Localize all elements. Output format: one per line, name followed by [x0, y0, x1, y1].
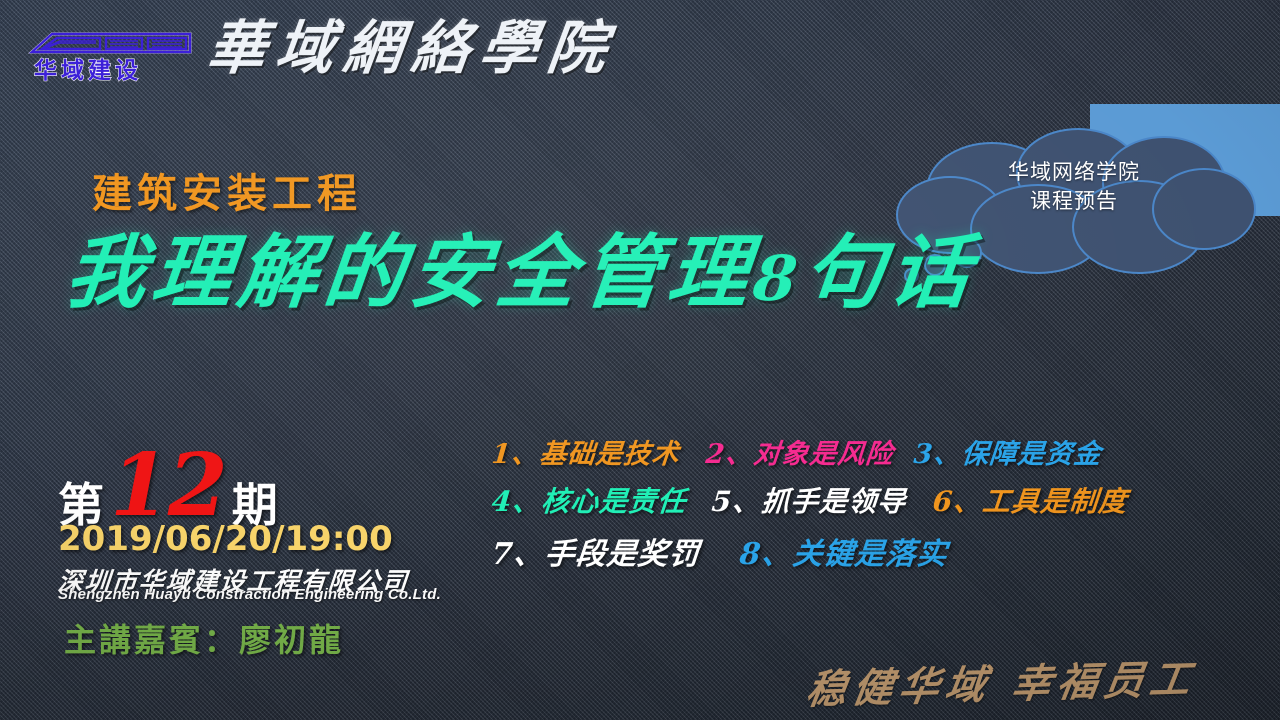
main-title: 我理解的安全管理8句话 [61, 224, 981, 327]
point-item-5: 5、抓手是领导 [711, 480, 909, 520]
main-title-part1: 我理解的安全管理 [61, 225, 759, 319]
cloud-text-line2: 课程预告 [896, 187, 1252, 216]
point-item-2: 2、对象是风险 [704, 432, 895, 471]
main-title-part2: 句话 [799, 225, 981, 319]
poster-canvas: 华域网络学院 课程预告 华域建设 華域網絡學院 建 [0, 0, 1280, 720]
points-row: 1、基础是技术 2、对象是风险 3、保障是资金 [492, 432, 1232, 471]
point-item-8: 8、关键是落实 [738, 529, 950, 573]
vignette-overlay [0, 0, 1280, 720]
main-title-number: 8 [750, 242, 807, 315]
logo-wordmark: 华域建设 [34, 57, 142, 82]
company-logo: 华域建设 [26, 26, 196, 82]
cloud-text: 华域网络学院 课程预告 [896, 158, 1252, 216]
points-row: 4、核心是责任 5、抓手是领导 6、工具是制度 [492, 480, 1232, 520]
points-row: 7、手段是奖罚 8、关键是落实 [492, 529, 1232, 573]
subject-title: 建筑安装工程 [92, 161, 362, 219]
speaker-line: 主講嘉賓：廖初龍 [64, 615, 344, 661]
point-item-7: 7、手段是奖罚 [490, 529, 702, 573]
slogan-calligraphy: 稳健华域 幸福员工 [803, 647, 1201, 716]
point-item-1: 1、基础是技术 [490, 432, 681, 471]
points-list: 1、基础是技术 2、对象是风险 3、保障是资金 4、核心是责任 5、抓手是领导 … [492, 432, 1232, 582]
point-item-4: 4、核心是责任 [490, 480, 688, 520]
event-datetime: 2019/06/20/19:00 [58, 519, 393, 559]
point-item-3: 3、保障是资金 [912, 432, 1103, 471]
academy-calligraphy-title: 華域網絡學院 [204, 14, 620, 82]
train-logo-icon: 华域建设 [26, 26, 196, 82]
point-item-6: 6、工具是制度 [931, 480, 1129, 520]
cloud-text-line1: 华域网络学院 [896, 158, 1252, 187]
company-name-en: Shengzhen Huayu Constraction Engineering… [58, 586, 441, 603]
